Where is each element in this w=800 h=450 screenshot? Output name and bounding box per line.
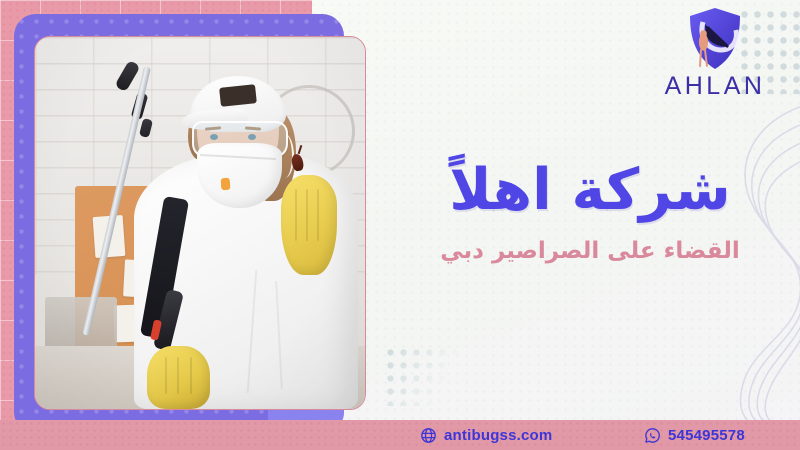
sprayer-nozzle — [114, 60, 140, 92]
technician-figure — [35, 37, 365, 409]
yellow-rubber-glove — [147, 346, 210, 409]
whatsapp-label: 545495578 — [668, 427, 745, 444]
glove-finger — [165, 357, 167, 394]
glove-finger — [317, 189, 319, 241]
insect-leg — [298, 145, 302, 154]
page-title: شركة اهلاً — [400, 160, 780, 222]
website-label: antibugss.com — [444, 427, 552, 444]
yellow-rubber-glove — [281, 175, 337, 275]
contact-footer-bar: antibugss.com 545495578 — [0, 420, 800, 450]
mask-valve — [221, 177, 231, 190]
sprayer-joint — [139, 118, 153, 138]
logo-text: AHLAN — [665, 74, 766, 99]
whatsapp-contact[interactable]: 545495578 — [644, 427, 745, 444]
page-subtitle: القضاء على الصراصير دبي — [400, 238, 780, 266]
whatsapp-icon — [644, 427, 661, 444]
headline-block: شركة اهلاً القضاء على الصراصير دبي — [400, 160, 780, 265]
globe-icon — [420, 427, 437, 444]
photo-inner — [35, 37, 365, 409]
glove-finger — [177, 357, 179, 394]
suit-fold — [275, 281, 283, 389]
glove-finger — [190, 357, 192, 394]
shield-with-insect-icon — [685, 6, 745, 72]
dot-grid-decoration-bottom — [384, 346, 458, 406]
technician-photo — [34, 36, 366, 410]
brand-logo[interactable]: AHLAN — [654, 6, 776, 112]
glove-finger — [306, 189, 308, 241]
glove-finger — [295, 189, 297, 241]
poster-canvas: AHLAN شركة اهلاً القضاء على الصراصير دبي… — [0, 0, 800, 450]
suit-fold — [246, 270, 257, 393]
website-contact[interactable]: antibugss.com — [420, 427, 552, 444]
